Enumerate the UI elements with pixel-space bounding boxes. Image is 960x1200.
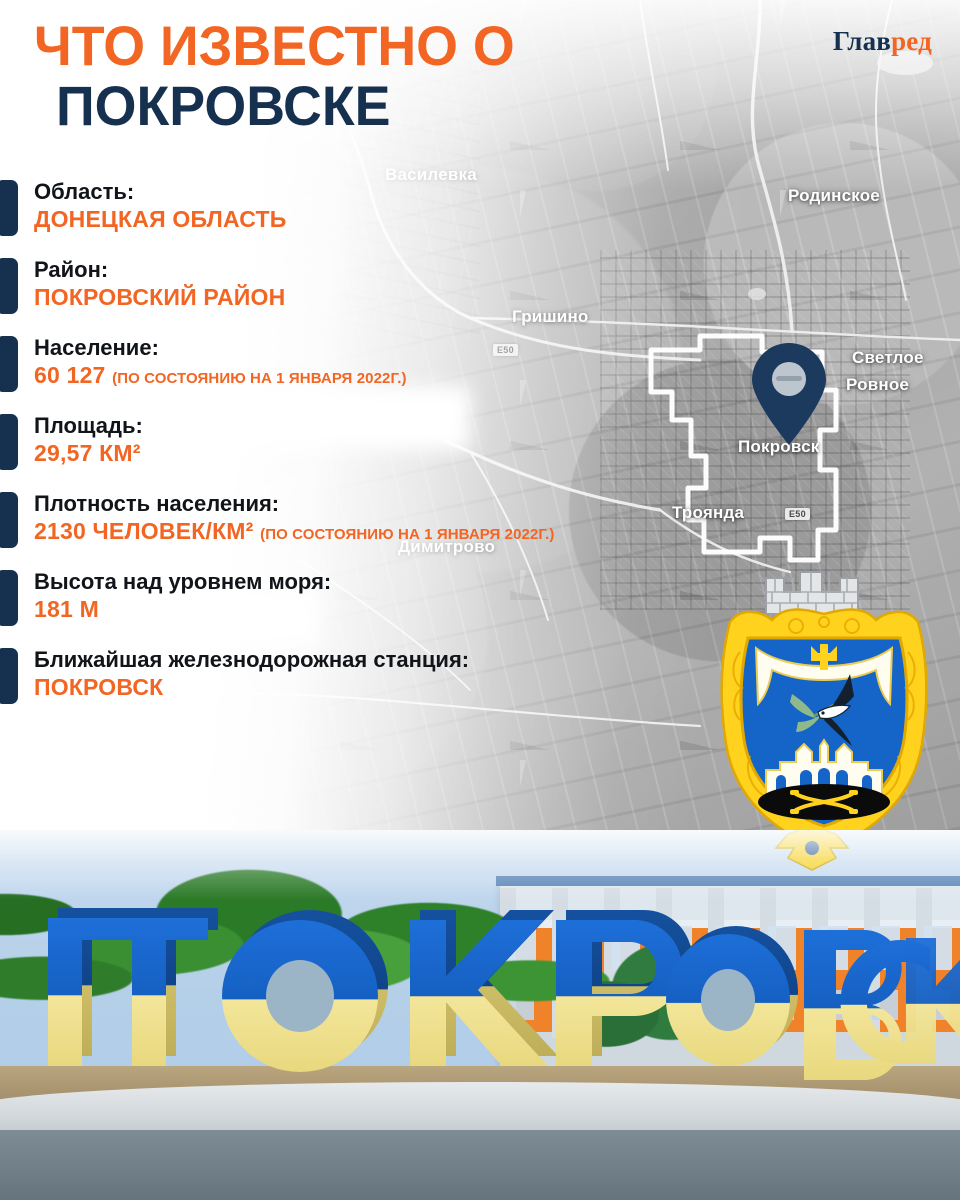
letter-K2 bbox=[906, 938, 960, 1064]
fact-value-population: 60 127 (ПО СОСТОЯНИЮ НА 1 ЯНВАРЯ 2022Г.) bbox=[34, 361, 760, 393]
fact-value-district: ПОКРОВСКИЙ РАЙОН bbox=[34, 283, 760, 312]
fact-row-elevation: Высота над уровнем моря: 181 М bbox=[0, 568, 760, 646]
fact-note-population: (ПО СОСТОЯНИЮ НА 1 ЯНВАРЯ 2022Г.) bbox=[112, 370, 406, 387]
fact-note-density: (ПО СОСТОЯНИЮ НА 1 ЯНВАРЯ 2022Г.) bbox=[260, 526, 554, 543]
fact-value-region: ДОНЕЦКАЯ ОБЛАСТЬ bbox=[34, 205, 760, 234]
letter-O1 bbox=[222, 910, 388, 1072]
page-title: ЧТО ИЗВЕСТНО О ПОКРОВСКЕ bbox=[34, 16, 674, 136]
brand-part-glav: Глав bbox=[833, 26, 891, 56]
fact-value-density-number: 2130 ЧЕЛОВЕК/КМ² bbox=[34, 518, 254, 544]
fact-row-railway-station: Ближайшая железнодорожная станция: ПОКРО… bbox=[0, 646, 760, 724]
infographic-poster: Василевка Родинское Гришино Светлое Ровн… bbox=[0, 0, 960, 1200]
city-photo bbox=[0, 830, 960, 1200]
fact-row-density: Плотность населения: 2130 ЧЕЛОВЕК/КМ² (П… bbox=[0, 490, 760, 568]
fact-row-population: Население: 60 127 (ПО СОСТОЯНИЮ НА 1 ЯНВ… bbox=[0, 334, 760, 412]
fact-value-railway-station: ПОКРОВСК bbox=[34, 673, 760, 702]
bullet-marker bbox=[0, 648, 18, 704]
fact-row-region: Область: ДОНЕЦКАЯ ОБЛАСТЬ bbox=[0, 178, 760, 256]
mural-crown-icon bbox=[766, 572, 858, 614]
fact-row-area: Площадь: 29,57 КМ² bbox=[0, 412, 760, 490]
title-line-1: ЧТО ИЗВЕСТНО О bbox=[34, 16, 648, 76]
title-line-2: ПОКРОВСКЕ bbox=[56, 76, 649, 136]
bullet-marker bbox=[0, 570, 18, 626]
bullet-marker bbox=[0, 336, 18, 392]
fact-row-district: Район: ПОКРОВСКИЙ РАЙОН bbox=[0, 256, 760, 334]
bullet-marker bbox=[0, 414, 18, 470]
facts-list: Область: ДОНЕЦКАЯ ОБЛАСТЬ Район: ПОКРОВС… bbox=[0, 178, 760, 724]
photo-top-fade bbox=[0, 830, 960, 900]
plaza-pavement bbox=[0, 1130, 960, 1200]
brand-part-red: ред bbox=[891, 26, 932, 56]
letter-P1 bbox=[48, 908, 218, 1066]
fact-label-area: Площадь: bbox=[34, 412, 760, 439]
bullet-marker bbox=[0, 258, 18, 314]
fact-label-elevation: Высота над уровнем моря: bbox=[34, 568, 760, 595]
fact-label-density: Плотность населения: bbox=[34, 490, 760, 517]
fact-value-density: 2130 ЧЕЛОВЕК/КМ² (ПО СОСТОЯНИЮ НА 1 ЯНВА… bbox=[34, 517, 760, 549]
letter-K bbox=[410, 910, 558, 1066]
fact-label-population: Население: bbox=[34, 334, 760, 361]
fact-label-railway-station: Ближайшая железнодорожная станция: bbox=[34, 646, 760, 673]
fact-label-district: Район: bbox=[34, 256, 760, 283]
fact-value-elevation: 181 М bbox=[34, 595, 760, 624]
coal-mound-sabers bbox=[758, 784, 890, 820]
bullet-marker bbox=[0, 180, 18, 236]
fact-value-area: 29,57 КМ² bbox=[34, 439, 760, 468]
fact-label-region: Область: bbox=[34, 178, 760, 205]
bullet-marker bbox=[0, 492, 18, 548]
brand-logo-glavred[interactable]: Главред bbox=[833, 26, 932, 57]
city-sign-letters bbox=[0, 878, 960, 1096]
fact-value-population-number: 60 127 bbox=[34, 362, 106, 388]
